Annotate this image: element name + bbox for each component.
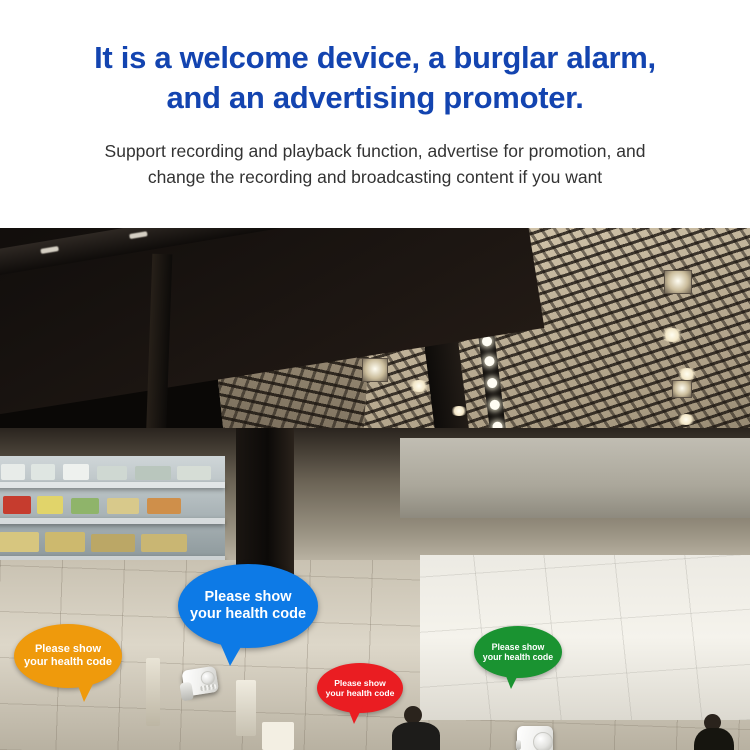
speech-bubble-red: Please show your health code bbox=[317, 663, 403, 713]
alarm-device-left[interactable] bbox=[177, 663, 227, 709]
speech-bubble-text: Please show your health code bbox=[320, 678, 401, 698]
promo-poster bbox=[262, 722, 294, 750]
ceiling-downlight bbox=[408, 380, 430, 392]
square-ceiling-light bbox=[362, 358, 388, 382]
ceiling-downlight bbox=[676, 414, 696, 425]
bubble-tail bbox=[76, 680, 95, 702]
device-motion-lens bbox=[533, 732, 553, 750]
product-scene-photo: Please show your health code Please show… bbox=[0, 228, 750, 750]
speech-bubble-blue: Please show your health code bbox=[178, 564, 318, 648]
page-headline: It is a welcome device, a burglar alarm,… bbox=[28, 38, 722, 117]
store-floor-aisle bbox=[420, 555, 750, 720]
square-ceiling-light bbox=[672, 380, 692, 398]
alarm-device-right[interactable] bbox=[513, 726, 561, 750]
shopper-body bbox=[392, 722, 440, 750]
bubble-tail bbox=[218, 638, 246, 666]
square-ceiling-light bbox=[664, 270, 692, 294]
device-mount-base bbox=[179, 682, 194, 702]
staff-body bbox=[694, 728, 734, 750]
speech-bubble-text: Please show your health code bbox=[184, 589, 312, 623]
speech-bubble-orange-left: Please show your health code bbox=[14, 624, 122, 688]
speech-bubble-text: Please show your health code bbox=[18, 643, 118, 669]
bubble-tail bbox=[504, 671, 520, 689]
header-text-block: It is a welcome device, a burglar alarm,… bbox=[0, 0, 750, 228]
speech-bubble-green: Please show your health code bbox=[474, 626, 562, 678]
speech-bubble-text: Please show your health code bbox=[477, 642, 559, 663]
bubble-tail bbox=[347, 706, 363, 724]
promo-poster bbox=[236, 680, 256, 736]
ceiling-downlight bbox=[676, 368, 698, 380]
ceiling-downlight bbox=[450, 406, 468, 416]
page-subheadline: Support recording and playback function,… bbox=[28, 139, 722, 190]
device-side-button[interactable] bbox=[516, 740, 521, 750]
ceiling-downlight bbox=[660, 328, 684, 342]
promo-poster bbox=[146, 658, 160, 726]
store-glass-facade bbox=[400, 438, 750, 518]
